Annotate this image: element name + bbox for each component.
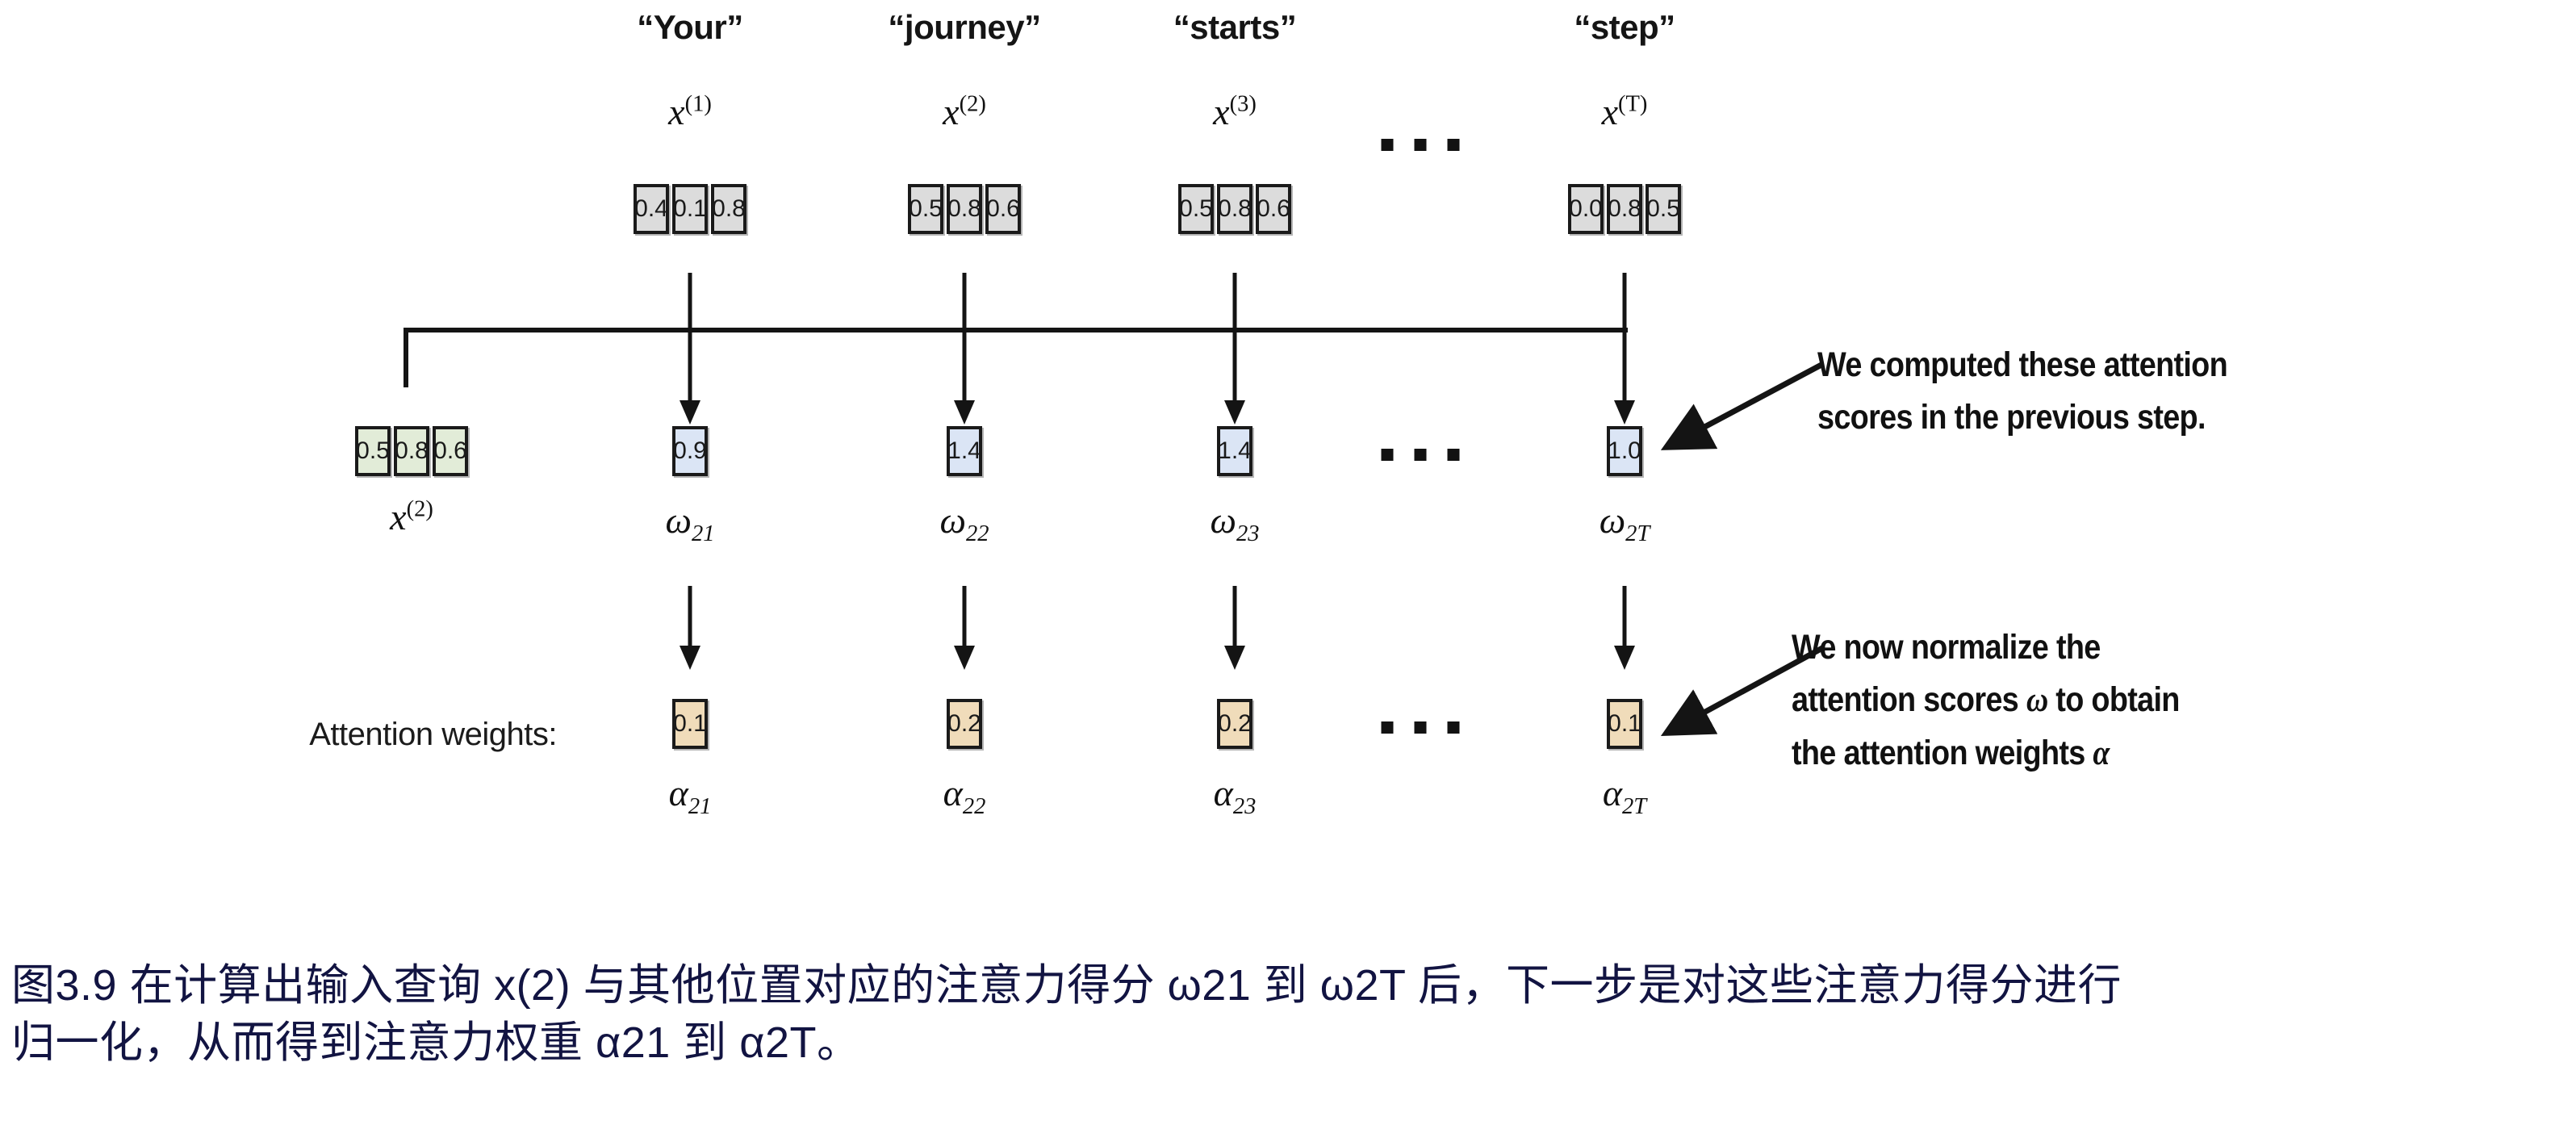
normalize-callout-line-3a: the attention weights	[1792, 734, 2093, 772]
token-symbol-4: x(T)	[1602, 90, 1648, 133]
normalize-callout-line-2b: to obtain	[2047, 680, 2179, 719]
token-symbol-base-4: x	[1602, 91, 1618, 132]
score-symbol-base-4: ω	[1600, 500, 1625, 541]
distribution-bus	[404, 328, 1628, 332]
weight-symbol-base-3: α	[1214, 772, 1233, 813]
bus-left-leg	[404, 328, 408, 387]
score-symbol-2: ω22	[940, 499, 989, 547]
input-vector-4: 0.0 0.8 0.5	[1568, 184, 1681, 234]
norm-arrow-head-2	[954, 646, 975, 670]
token-symbol-sup-1: (1)	[685, 92, 712, 117]
score-cell: 1.4	[947, 426, 982, 476]
score-cell: 1.4	[1217, 426, 1252, 476]
ellipsis-dot	[1415, 721, 1427, 734]
weight-symbol-1: α21	[669, 772, 712, 820]
weight-box-4: 0.1	[1607, 699, 1642, 749]
token-word-1: “Your”	[637, 8, 743, 47]
input-vector-3: 0.5 0.8 0.6	[1178, 184, 1291, 234]
arrow-head-3	[1224, 400, 1245, 424]
weight-cell: 0.2	[947, 699, 982, 749]
arrow-shaft-2	[963, 273, 967, 407]
scores-callout-line-2: scores in the previous step.	[1817, 391, 2227, 444]
score-cell: 1.0	[1607, 426, 1642, 476]
weight-symbol-base-4: α	[1603, 772, 1622, 813]
token-symbol-sup-3: (3)	[1230, 92, 1257, 117]
weight-symbol-base-2: α	[943, 772, 963, 813]
input-cell: 0.8	[1217, 184, 1252, 234]
score-symbol-sub-4: 2T	[1625, 521, 1650, 546]
score-symbol-base-3: ω	[1211, 500, 1236, 541]
token-word-4: “step”	[1574, 8, 1675, 47]
ellipsis-dot	[1448, 139, 1460, 151]
token-word-3: “starts”	[1173, 8, 1296, 47]
weight-symbol-sub-1: 21	[688, 794, 712, 819]
score-box-4: 1.0	[1607, 426, 1642, 476]
omega-glyph: ω	[2026, 681, 2048, 719]
weight-symbol-sub-4: 2T	[1622, 794, 1646, 819]
query-symbol: x(2)	[390, 496, 433, 538]
input-cell: 0.5	[1646, 184, 1681, 234]
scores-callout-leader	[1650, 355, 1836, 468]
input-cell: 0.1	[672, 184, 708, 234]
input-cell: 0.8	[947, 184, 982, 234]
score-cell: 0.9	[672, 426, 708, 476]
alpha-glyph: α	[2093, 734, 2109, 772]
arrow-head-1	[680, 400, 700, 424]
query-cell: 0.6	[433, 426, 468, 476]
weight-box-3: 0.2	[1217, 699, 1252, 749]
normalize-callout-line-2a: attention scores	[1792, 680, 2026, 719]
attention-weights-label: Attention weights:	[309, 717, 557, 753]
token-symbol-sup-2: (2)	[960, 92, 986, 117]
scores-callout: We computed these attention scores in th…	[1817, 339, 2227, 445]
arrow-head-2	[954, 400, 975, 424]
arrow-head-4	[1614, 400, 1635, 424]
token-symbol-3: x(3)	[1213, 90, 1257, 133]
input-vector-2: 0.5 0.8 0.6	[908, 184, 1021, 234]
token-symbol-base-1: x	[668, 91, 684, 132]
score-symbol-base-1: ω	[666, 500, 692, 541]
query-symbol-sup: (2)	[407, 497, 433, 522]
token-symbol-2: x(2)	[943, 90, 986, 133]
weight-symbol-3: α23	[1214, 772, 1257, 820]
ellipsis-scores	[1382, 449, 1460, 461]
norm-arrow-shaft-2	[963, 586, 967, 652]
normalize-callout-line-2: attention scores ω to obtain	[1792, 674, 2180, 726]
ellipsis-dot	[1448, 449, 1460, 461]
weight-symbol-base-1: α	[669, 772, 688, 813]
figure-caption-line-1: 图3.9 在计算出输入查询 x(2) 与其他位置对应的注意力得分 ω21 到 ω…	[11, 957, 2570, 1014]
arrow-shaft-1	[688, 273, 692, 407]
ellipsis-dot	[1415, 449, 1427, 461]
token-symbol-base-2: x	[943, 91, 959, 132]
token-symbol-sup-4: (T)	[1618, 92, 1647, 117]
weight-box-1: 0.1	[672, 699, 708, 749]
arrow-shaft-3	[1233, 273, 1237, 407]
score-box-1: 0.9	[672, 426, 708, 476]
figure-canvas: “Your” “journey” “starts” “step” x(1) x(…	[0, 0, 2576, 1125]
ellipsis-dot	[1382, 721, 1394, 734]
score-symbol-3: ω23	[1211, 499, 1260, 547]
input-cell: 0.5	[1178, 184, 1214, 234]
ellipsis-inputs	[1382, 139, 1460, 151]
token-symbol-base-3: x	[1213, 91, 1229, 132]
ellipsis-dot	[1382, 449, 1394, 461]
score-symbol-sub-1: 21	[692, 521, 715, 546]
ellipsis-dot	[1415, 139, 1427, 151]
input-cell: 0.6	[1256, 184, 1291, 234]
norm-arrow-head-1	[680, 646, 700, 670]
norm-arrow-shaft-4	[1623, 586, 1627, 652]
weight-symbol-sub-3: 23	[1233, 794, 1257, 819]
scores-callout-line-1: We computed these attention	[1817, 339, 2227, 391]
norm-arrow-shaft-3	[1233, 586, 1237, 652]
ellipsis-dot	[1382, 139, 1394, 151]
input-cell: 0.8	[711, 184, 746, 234]
score-symbol-sub-3: 23	[1236, 521, 1260, 546]
figure-caption-line-2: 归一化，从而得到注意力权重 α21 到 α2T。	[11, 1014, 2570, 1072]
normalize-callout-line-1: We now normalize the	[1792, 621, 2180, 674]
norm-arrow-head-3	[1224, 646, 1245, 670]
normalize-callout: We now normalize the attention scores ω …	[1792, 621, 2180, 780]
weight-symbol-sub-2: 22	[963, 794, 986, 819]
query-vector: 0.5 0.8 0.6	[355, 426, 468, 476]
input-vector-1: 0.4 0.1 0.8	[634, 184, 746, 234]
query-symbol-base: x	[390, 496, 406, 537]
score-symbol-1: ω21	[666, 499, 715, 547]
score-symbol-base-2: ω	[940, 500, 966, 541]
score-box-3: 1.4	[1217, 426, 1252, 476]
weight-symbol-4: α2T	[1603, 772, 1646, 820]
normalize-callout-line-3: the attention weights α	[1792, 727, 2180, 780]
figure-caption: 图3.9 在计算出输入查询 x(2) 与其他位置对应的注意力得分 ω21 到 ω…	[11, 957, 2570, 1073]
query-cell: 0.8	[394, 426, 429, 476]
weight-cell: 0.1	[1607, 699, 1642, 749]
token-word-2: “journey”	[888, 8, 1040, 47]
token-symbol-1: x(1)	[668, 90, 712, 133]
weight-cell: 0.1	[672, 699, 708, 749]
input-cell: 0.5	[908, 184, 943, 234]
weight-cell: 0.2	[1217, 699, 1252, 749]
ellipsis-dot	[1448, 721, 1460, 734]
arrow-shaft-4	[1623, 273, 1627, 407]
norm-arrow-shaft-1	[688, 586, 692, 652]
norm-arrow-head-4	[1614, 646, 1635, 670]
weight-symbol-2: α22	[943, 772, 986, 820]
input-cell: 0.4	[634, 184, 669, 234]
ellipsis-weights	[1382, 721, 1460, 734]
score-box-2: 1.4	[947, 426, 982, 476]
weight-box-2: 0.2	[947, 699, 982, 749]
input-cell: 0.0	[1568, 184, 1604, 234]
input-cell: 0.8	[1607, 184, 1642, 234]
query-cell: 0.5	[355, 426, 391, 476]
score-symbol-sub-2: 22	[966, 521, 989, 546]
score-symbol-4: ω2T	[1600, 499, 1650, 547]
input-cell: 0.6	[985, 184, 1021, 234]
